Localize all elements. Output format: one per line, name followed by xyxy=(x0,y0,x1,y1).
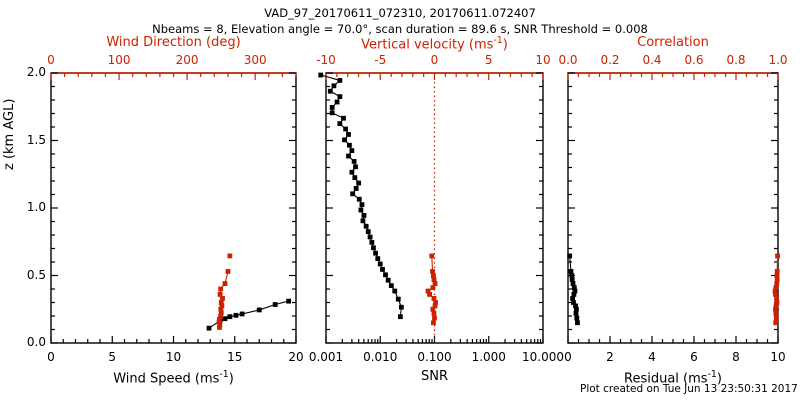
verticalvelocity-point xyxy=(432,316,437,321)
x-tick-label-snr: 0.100 xyxy=(405,350,465,364)
correlation-point xyxy=(774,311,779,316)
correlation-point xyxy=(773,320,778,325)
top-axis-name-winddirection: Wind Direction (deg) xyxy=(51,35,296,50)
residual-point xyxy=(575,320,580,325)
y-tick-label: 1.0 xyxy=(16,200,46,214)
top-axis-name-correlation: Correlation xyxy=(568,35,778,50)
snr-point xyxy=(398,314,403,319)
winddirection-point xyxy=(223,281,228,286)
residual-point xyxy=(574,316,579,321)
snr-point xyxy=(366,229,371,234)
x-tick-label-residual: 2 xyxy=(594,350,626,364)
x-tick-label-windspeed: 15 xyxy=(221,350,249,364)
snr-point xyxy=(368,235,373,240)
windspeed-point xyxy=(240,312,245,317)
snr-point xyxy=(371,245,376,250)
x-tick-label-vertvel: -5 xyxy=(362,53,398,67)
x-tick-label-snr: 0.010 xyxy=(350,350,410,364)
snr-point xyxy=(330,110,335,115)
x-tick-label-correlation: 0.6 xyxy=(678,53,710,67)
snr-point xyxy=(392,289,397,294)
residual-point xyxy=(567,254,572,259)
verticalvelocity-point xyxy=(430,285,435,290)
panel-frame-right xyxy=(568,73,778,343)
figure-canvas: VAD_97_20170611_072310, 20170611.072407 … xyxy=(0,0,800,400)
winddirection-point xyxy=(226,269,231,274)
windspeed-point xyxy=(286,299,291,304)
snr-point xyxy=(337,78,342,83)
windspeed-point xyxy=(257,308,262,313)
snr-point xyxy=(354,186,359,191)
panel-frame-left xyxy=(51,73,296,343)
snr-point xyxy=(318,73,323,78)
x-tick-label-correlation: 0.8 xyxy=(720,53,752,67)
snr-point xyxy=(346,154,351,159)
x-tick-label-correlation: 1.0 xyxy=(762,53,794,67)
snr-point xyxy=(359,208,364,213)
correlation-point xyxy=(774,316,779,321)
windspeed-point xyxy=(273,302,278,307)
top-axis-name-verticalvelocity: Vertical velocity (ms-1) xyxy=(306,35,563,52)
snr-point xyxy=(364,224,369,229)
winddirection-point xyxy=(218,292,223,297)
snr-point xyxy=(343,127,348,132)
x-tick-label-residual: 6 xyxy=(678,350,710,364)
snr-point xyxy=(389,283,394,288)
x-tick-label-residual: 4 xyxy=(636,350,668,364)
x-axis-name-snr: SNR xyxy=(326,369,543,384)
x-tick-label-vertvel: 0 xyxy=(417,53,453,67)
snr-point xyxy=(332,83,337,88)
y-tick-label: 1.5 xyxy=(16,133,46,147)
snr-point xyxy=(362,213,367,218)
snr-point xyxy=(357,197,362,202)
snr-point xyxy=(352,175,357,180)
snr-point xyxy=(399,305,404,310)
snr-point xyxy=(360,202,365,207)
x-tick-label-windspeed: 10 xyxy=(160,350,188,364)
x-axis-name-windspeed: Wind Speed (ms-1) xyxy=(51,369,296,386)
verticalvelocity-point xyxy=(432,311,437,316)
snr-point xyxy=(369,240,374,245)
snr-point xyxy=(386,278,391,283)
snr-point xyxy=(378,262,383,267)
windspeed-point xyxy=(227,314,232,319)
snr-point xyxy=(335,100,340,105)
snr-point xyxy=(341,116,346,121)
snr-point xyxy=(350,191,355,196)
x-tick-label-residual: 0 xyxy=(552,350,584,364)
winddirection-point xyxy=(227,254,232,259)
x-tick-label-winddir: 300 xyxy=(239,53,271,67)
y-tick-label: 2.0 xyxy=(16,65,46,79)
snr-point xyxy=(353,164,358,169)
snr-point xyxy=(337,94,342,99)
snr-point xyxy=(330,105,335,110)
x-tick-label-winddir: 100 xyxy=(103,53,135,67)
x-tick-label-vertvel: 5 xyxy=(471,53,507,67)
snr-point xyxy=(356,181,361,186)
snr-point xyxy=(346,132,351,137)
x-tick-label-correlation: 0.4 xyxy=(636,53,668,67)
snr-point xyxy=(352,159,357,164)
snr-point xyxy=(380,267,385,272)
x-tick-label-residual: 8 xyxy=(720,350,752,364)
x-tick-label-winddir: 200 xyxy=(171,53,203,67)
x-tick-label-correlation: 0.0 xyxy=(552,53,584,67)
windspeed-point xyxy=(234,313,239,318)
snr-point xyxy=(328,89,333,94)
snr-point xyxy=(342,137,347,142)
snr-point xyxy=(349,170,354,175)
x-axis-name-residual: Residual (ms-1) xyxy=(568,369,778,386)
x-tick-label-snr: 0.001 xyxy=(296,350,356,364)
snr-point xyxy=(347,143,352,148)
snr-point xyxy=(349,148,354,153)
x-tick-label-vertvel: -10 xyxy=(308,53,344,67)
verticalvelocity-point xyxy=(431,320,436,325)
snr-point xyxy=(337,121,342,126)
windspeed-point xyxy=(207,326,212,331)
x-tick-label-windspeed: 5 xyxy=(98,350,126,364)
snr-point xyxy=(373,251,378,256)
verticalvelocity-point xyxy=(427,292,432,297)
residual-point xyxy=(574,311,579,316)
x-tick-label-snr: 1.000 xyxy=(459,350,519,364)
correlation-point xyxy=(775,254,780,259)
y-tick-label: 0.5 xyxy=(16,268,46,282)
x-tick-label-correlation: 0.2 xyxy=(594,53,626,67)
windspeed-point xyxy=(223,316,228,321)
snr-point xyxy=(383,272,388,277)
winddirection-point xyxy=(218,287,223,292)
verticalvelocity-point xyxy=(429,254,434,259)
x-tick-label-windspeed: 0 xyxy=(37,350,65,364)
snr-point xyxy=(396,297,401,302)
snr-point xyxy=(361,218,366,223)
snr-point xyxy=(375,256,380,261)
y-tick-label: 0.0 xyxy=(16,335,46,349)
x-tick-label-residual: 10 xyxy=(762,350,794,364)
x-tick-label-winddir: 0 xyxy=(35,53,67,67)
